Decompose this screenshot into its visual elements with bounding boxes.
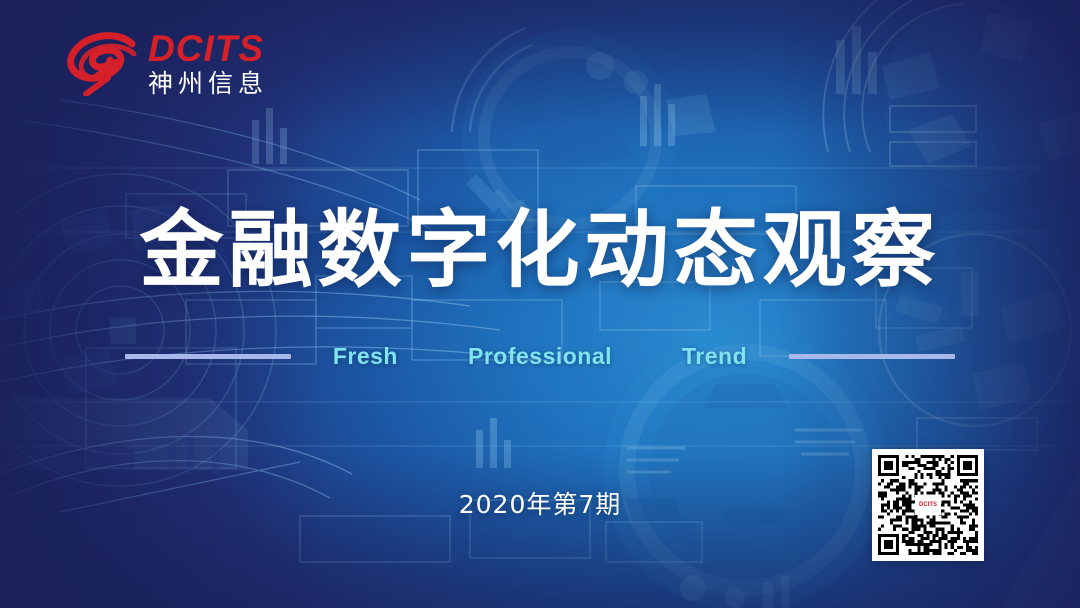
dcits-logo: DCITS 神州信息 [64, 30, 268, 97]
dcits-swirl-icon [64, 32, 138, 96]
qr-code[interactable]: DCITS [872, 449, 984, 561]
keyword-trend: Trend [682, 343, 747, 370]
keyword-professional: Professional [468, 343, 612, 370]
keyword-fresh: Fresh [333, 343, 398, 370]
divider-line-left [125, 354, 291, 359]
qr-center-logo: DCITS [915, 495, 941, 515]
keyword-strip: Fresh Professional Trend [0, 341, 1080, 371]
logo-text-en: DCITS [148, 30, 268, 67]
slide-title: 金融数字化动态观察 [0, 183, 1080, 304]
divider-line-right [789, 354, 955, 359]
qr-center-logo-text: DCITS [919, 502, 937, 508]
presentation-cover-slide: DCITS 神州信息 金融数字化动态观察 Fresh Professional … [0, 0, 1080, 608]
logo-text-cn: 神州信息 [148, 72, 268, 97]
